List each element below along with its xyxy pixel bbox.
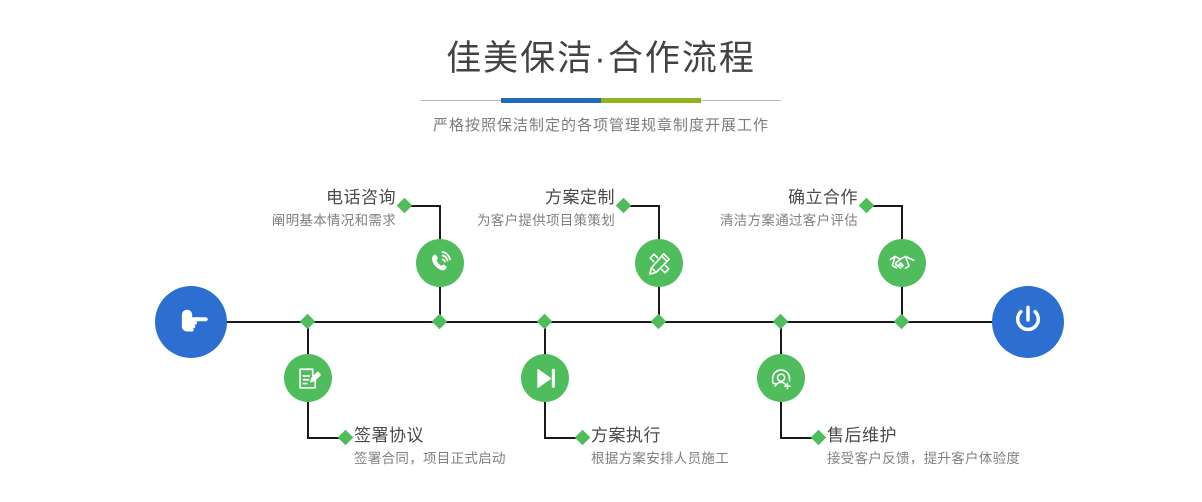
step-6-subtitle: 接受客户反馈，提升客户体验度 <box>827 449 1127 469</box>
step-3-subtitle: 为客户提供项目策策划 <box>370 211 615 231</box>
step-1-icon-circle[interactable] <box>416 239 464 287</box>
step-6-label: 售后维护 接受客户反馈，提升客户体验度 <box>827 425 1127 469</box>
timeline-end-endpoint[interactable] <box>992 286 1064 358</box>
step-4-axis-diamond <box>537 314 553 330</box>
document-edit-icon <box>295 365 322 392</box>
step-5-label: 确立合作 清洁方案通过客户评估 <box>613 187 858 231</box>
step-2-axis-diamond <box>300 314 316 330</box>
step-3-title: 方案定制 <box>370 187 615 209</box>
process-timeline: 电话咨询 阐明基本情况和需求 签署协议 签署合同，项目正式启动 <box>0 0 1202 502</box>
step-1-subtitle: 阐明基本情况和需求 <box>150 211 396 231</box>
step-6-title: 售后维护 <box>827 425 1127 447</box>
timeline-start-endpoint[interactable] <box>155 286 227 358</box>
headset-support-icon <box>768 365 795 392</box>
step-5-icon-circle[interactable] <box>878 239 926 287</box>
step-3-axis-diamond <box>651 314 667 330</box>
pointing-hand-icon <box>172 301 210 344</box>
step-6-axis-diamond <box>773 314 789 330</box>
step-6-icon-circle[interactable] <box>757 354 805 402</box>
handshake-icon <box>888 249 916 277</box>
pencil-ruler-icon <box>646 250 673 277</box>
step-5-title: 确立合作 <box>613 187 858 209</box>
step-3-icon-circle[interactable] <box>635 239 683 287</box>
step-5-axis-diamond <box>894 314 910 330</box>
step-2-label-diamond <box>338 430 354 446</box>
step-1-label: 电话咨询 阐明基本情况和需求 <box>150 187 396 231</box>
step-2-icon-circle[interactable] <box>284 354 332 402</box>
step-4-icon-circle[interactable] <box>521 354 569 402</box>
step-1-axis-diamond <box>432 314 448 330</box>
step-5-subtitle: 清洁方案通过客户评估 <box>613 211 858 231</box>
phone-call-icon <box>426 249 454 277</box>
step-3-label: 方案定制 为客户提供项目策策划 <box>370 187 615 231</box>
step-1-title: 电话咨询 <box>150 187 396 209</box>
step-5-label-diamond <box>859 198 875 214</box>
power-icon <box>1009 301 1047 344</box>
play-execute-icon <box>532 365 559 392</box>
